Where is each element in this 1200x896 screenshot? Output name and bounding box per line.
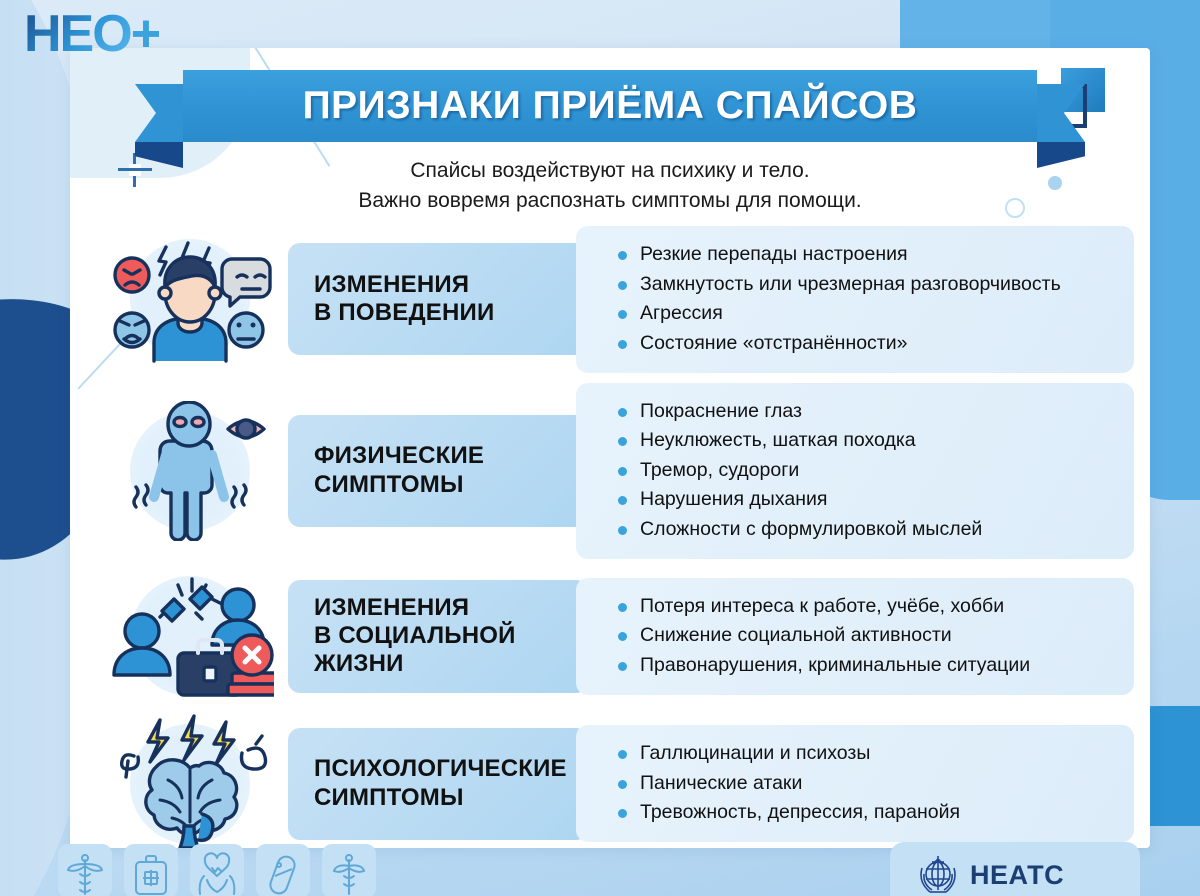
sections-list: ИЗМЕНЕНИЯ В ПОВЕДЕНИИ Резкие перепады на…: [92, 226, 1134, 848]
list-item: Панические атаки: [618, 769, 1118, 799]
label-line: ИЗМЕНЕНИЯ: [314, 271, 469, 298]
trembling-body-red-eye-icon: [92, 401, 288, 541]
section-bullets-psychological: Галлюцинации и психозы Панические атаки …: [576, 725, 1134, 842]
poster-card: ПРИЗНАКИ ПРИЁМА СПАЙСОВ Спайсы воздейств…: [70, 48, 1150, 848]
list-item: Правонарушения, криминальные ситуации: [618, 651, 1118, 681]
list-item: Тремор, судороги: [618, 456, 1118, 486]
label-line: В СОЦИАЛЬНОЙ: [314, 622, 516, 649]
label-line: В ПОВЕДЕНИИ: [314, 299, 494, 326]
who-emblem-icon: [916, 852, 960, 896]
section-label-text: ИЗМЕНЕНИЯ В СОЦИАЛЬНОЙ ЖИЗНИ: [314, 594, 516, 679]
list-item: Сложности с формулировкой мыслей: [618, 515, 1118, 545]
section-bullets-physical: Покраснение глаз Неуклюжесть, шаткая пох…: [576, 383, 1134, 559]
brand-logo: HEO+: [24, 8, 159, 60]
brand-name: HEO: [24, 5, 131, 63]
brand-plus: +: [131, 5, 159, 63]
broken-social-link-briefcase-icon: [92, 569, 288, 704]
section-row: ИЗМЕНЕНИЯ В ПОВЕДЕНИИ Резкие перепады на…: [92, 226, 1134, 373]
section-row: ПСИХОЛОГИЧЕСКИЕ СИМПТОМЫ Галлюцинации и …: [92, 714, 1134, 848]
list-item: Замкнутость или чрезмерная разговорчивос…: [618, 270, 1118, 300]
label-line: СИМПТОМЫ: [314, 784, 464, 811]
who-badge: НЕАТС: [890, 842, 1140, 896]
section-row: ИЗМЕНЕНИЯ В СОЦИАЛЬНОЙ ЖИЗНИ Потеря инте…: [92, 569, 1134, 704]
list-item: Неуклюжесть, шаткая походка: [618, 426, 1118, 456]
section-label-behaviour: ИЗМЕНЕНИЯ В ПОВЕДЕНИИ: [288, 243, 588, 355]
label-line: ИЗМЕНЕНИЯ: [314, 594, 469, 621]
label-line: ФИЗИЧЕСКИЕ: [314, 442, 484, 469]
list-item: Покраснение глаз: [618, 397, 1118, 427]
list-item: Галлюцинации и психозы: [618, 739, 1118, 769]
caduceus-icon: [58, 844, 112, 896]
capsule-pill-icon: [256, 844, 310, 896]
brain-lightning-icon: [92, 714, 288, 848]
section-label-psychological: ПСИХОЛОГИЧЕСКИЕ СИМПТОМЫ: [288, 728, 588, 840]
list-item: Агрессия: [618, 299, 1118, 329]
subtitle-line-2: Важно вовремя распознать симптомы для по…: [70, 186, 1150, 216]
footer-icon-strip: [58, 844, 376, 896]
subtitle: Спайсы воздействуют на психику и тело. В…: [70, 156, 1150, 216]
label-line: СИМПТОМЫ: [314, 471, 464, 498]
section-label-text: ИЗМЕНЕНИЯ В ПОВЕДЕНИИ: [314, 271, 494, 328]
ribbon-banner: ПРИЗНАКИ ПРИЁМА СПАЙСОВ: [183, 70, 1037, 142]
list-item: Тревожность, депрессия, паранойя: [618, 798, 1118, 828]
section-label-text: ПСИХОЛОГИЧЕСКИЕ СИМПТОМЫ: [314, 755, 567, 812]
angry-person-emotions-icon: [92, 235, 288, 363]
list-item: Потеря интереса к работе, учёбе, хобби: [618, 592, 1118, 622]
section-row: ФИЗИЧЕСКИЕ СИМПТОМЫ Покраснение глаз Неу…: [92, 383, 1134, 559]
title-ribbon: ПРИЗНАКИ ПРИЁМА СПАЙСОВ: [70, 70, 1150, 142]
caduceus-wings-icon: [322, 844, 376, 896]
section-bullets-behaviour: Резкие перепады настроения Замкнутость и…: [576, 226, 1134, 373]
list-item: Снижение социальной активности: [618, 621, 1118, 651]
section-label-physical: ФИЗИЧЕСКИЕ СИМПТОМЫ: [288, 415, 588, 527]
list-item: Резкие перепады настроения: [618, 240, 1118, 270]
first-aid-kit-icon: [124, 844, 178, 896]
who-label: НЕАТС: [970, 860, 1064, 891]
section-bullets-social: Потеря интереса к работе, учёбе, хобби С…: [576, 578, 1134, 695]
list-item: Состояние «отстранённости»: [618, 329, 1118, 359]
page-title: ПРИЗНАКИ ПРИЁМА СПАЙСОВ: [303, 84, 918, 128]
section-label-social: ИЗМЕНЕНИЯ В СОЦИАЛЬНОЙ ЖИЗНИ: [288, 580, 588, 693]
subtitle-line-1: Спайсы воздействуют на психику и тело.: [70, 156, 1150, 186]
heart-in-hands-icon: [190, 844, 244, 896]
label-line: ПСИХОЛОГИЧЕСКИЕ: [314, 755, 567, 782]
list-item: Нарушения дыхания: [618, 485, 1118, 515]
label-line: ЖИЗНИ: [314, 650, 404, 677]
section-label-text: ФИЗИЧЕСКИЕ СИМПТОМЫ: [314, 442, 484, 499]
